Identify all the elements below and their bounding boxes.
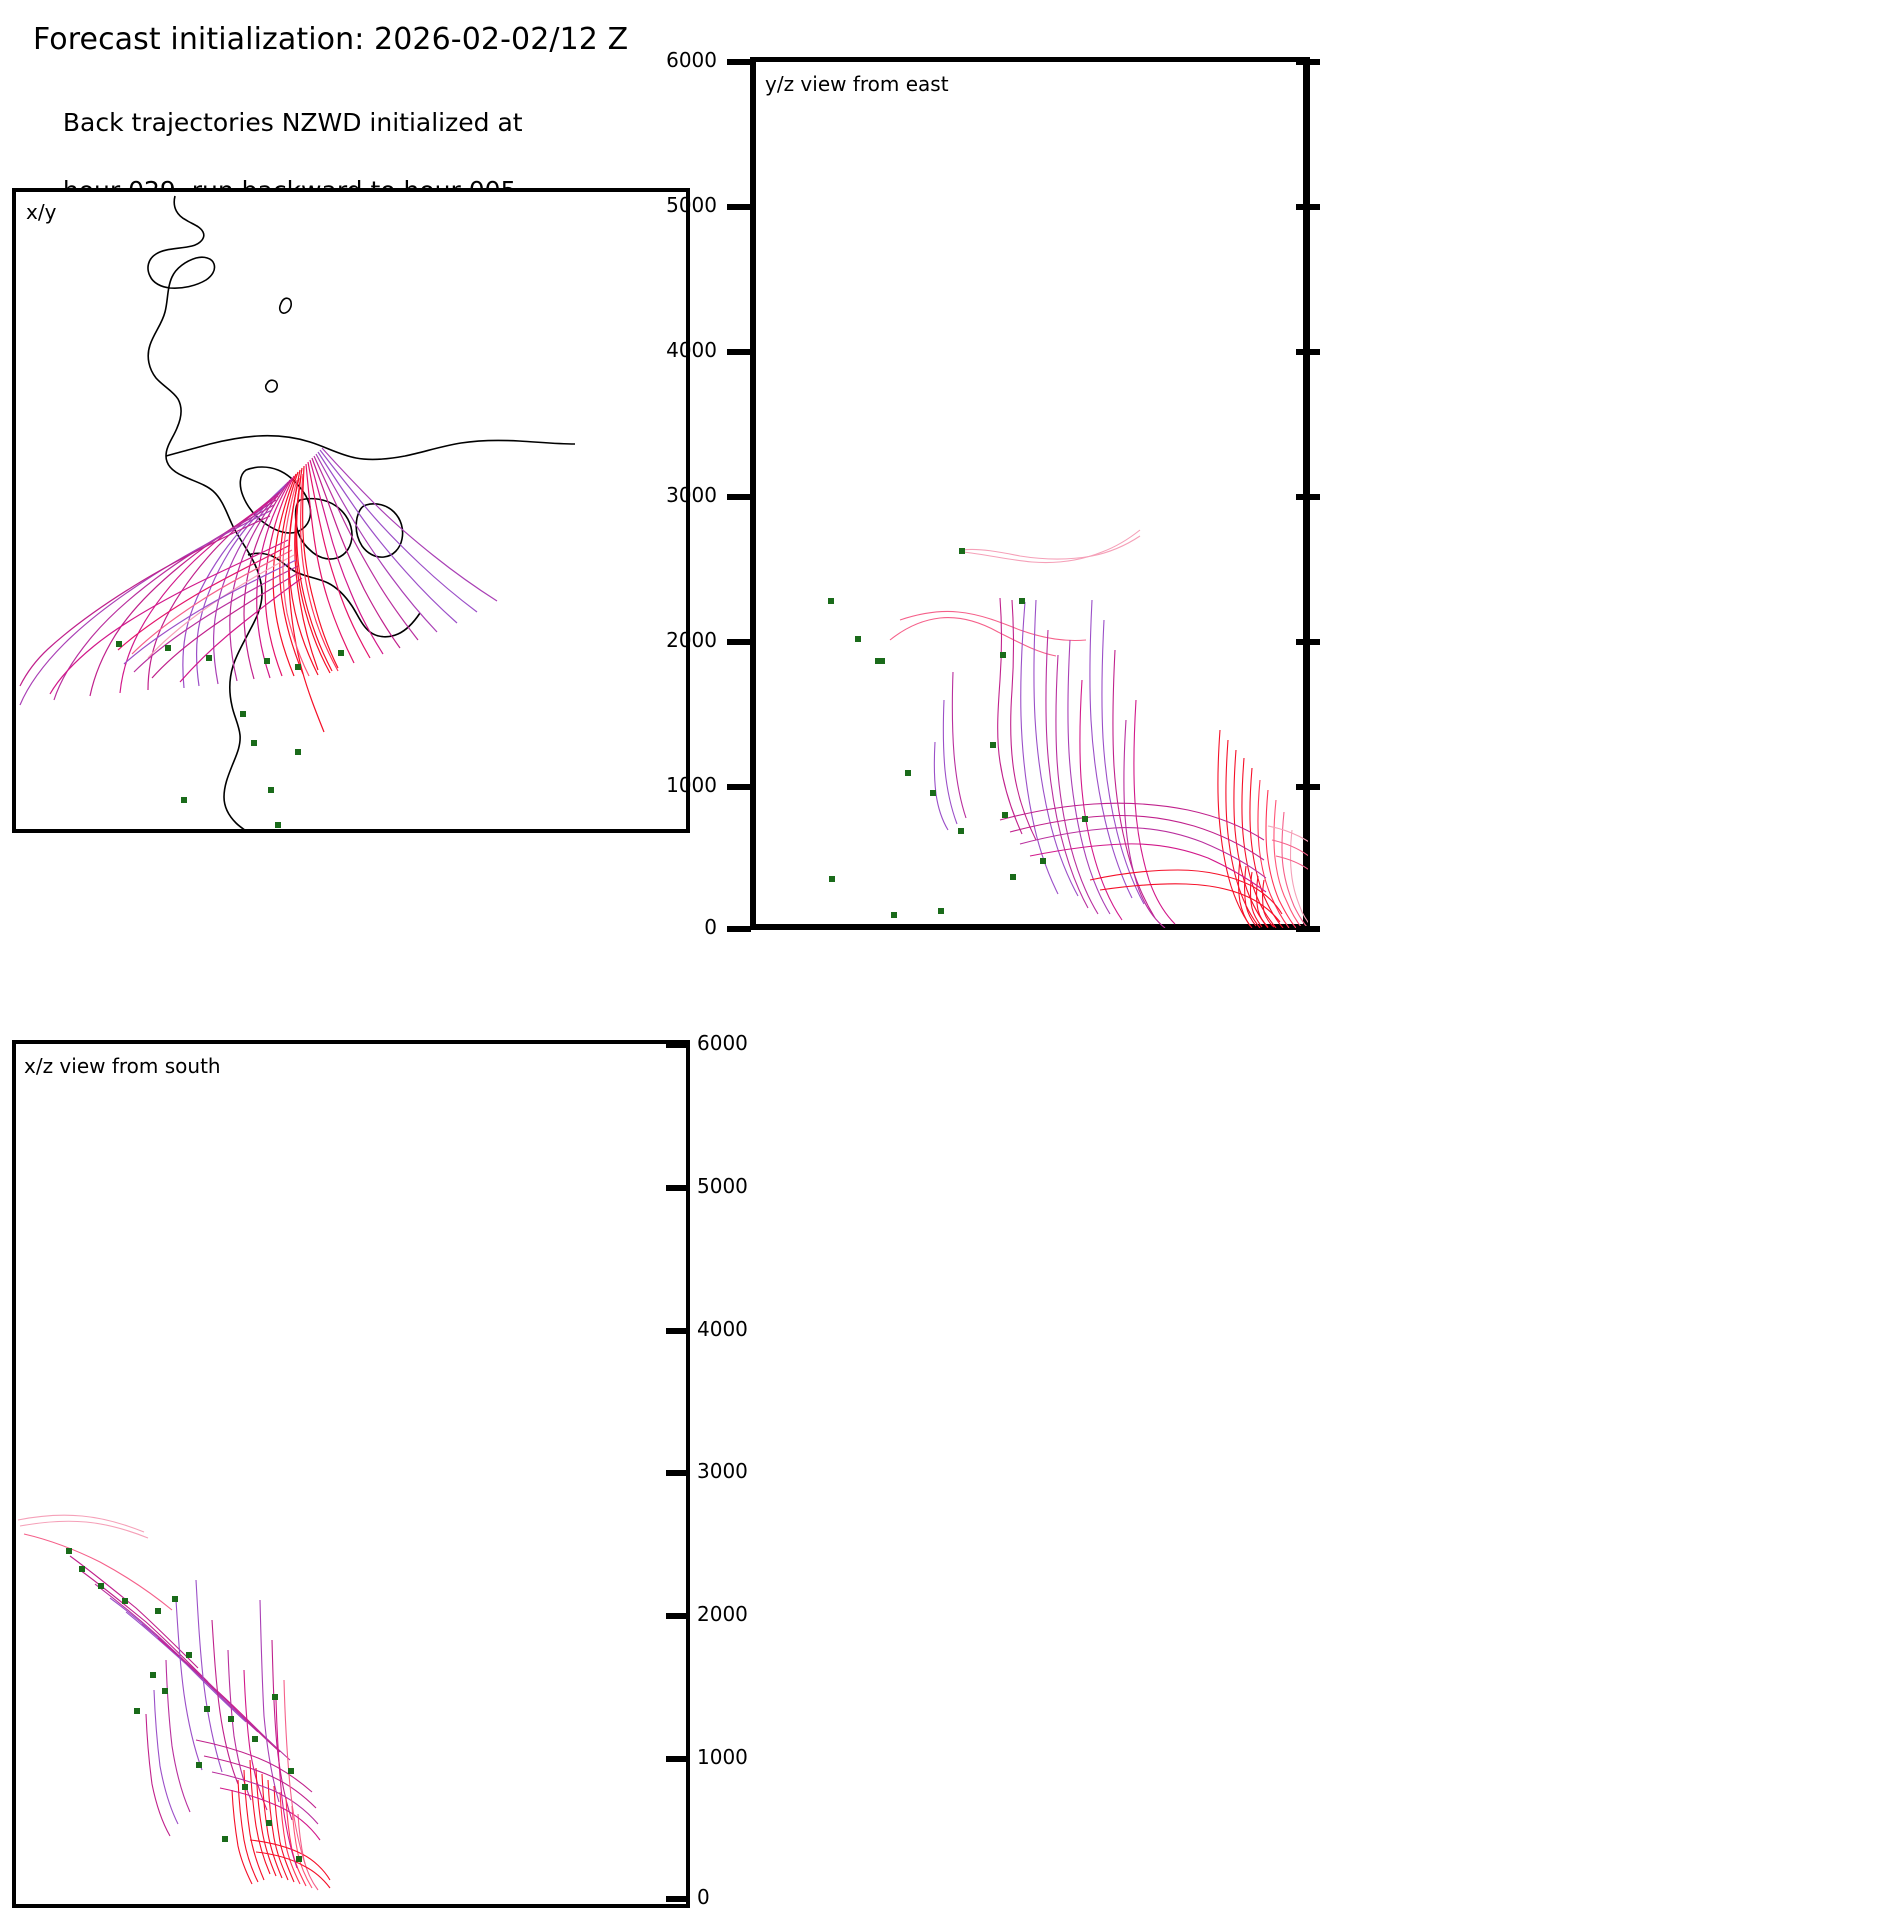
xz-endpoint-markers [66,1548,302,1862]
xz-tick-1000 [666,1756,690,1762]
xz-tick-3000 [666,1470,690,1476]
xz-tick-0 [666,1896,690,1902]
xz-tick-2000 [666,1613,690,1619]
xz-ticklabel-3000: 3000 [697,1459,807,1483]
xz-ticklabel-5000: 5000 [697,1174,807,1198]
xz-tick-5000 [666,1185,690,1191]
xz-ticklabel-0: 0 [697,1885,807,1909]
xz-ticklabel-2000: 2000 [697,1602,807,1626]
xz-tick-4000 [666,1328,690,1334]
xz-ticklabel-1000: 1000 [697,1745,807,1769]
xz-tick-6000 [666,1042,690,1048]
xz-ticklabel-4000: 4000 [697,1317,807,1341]
xz-ticklabel-6000: 6000 [697,1031,807,1055]
panel-xz-plot [0,0,1900,1900]
xz-trajectories [18,1515,330,1890]
